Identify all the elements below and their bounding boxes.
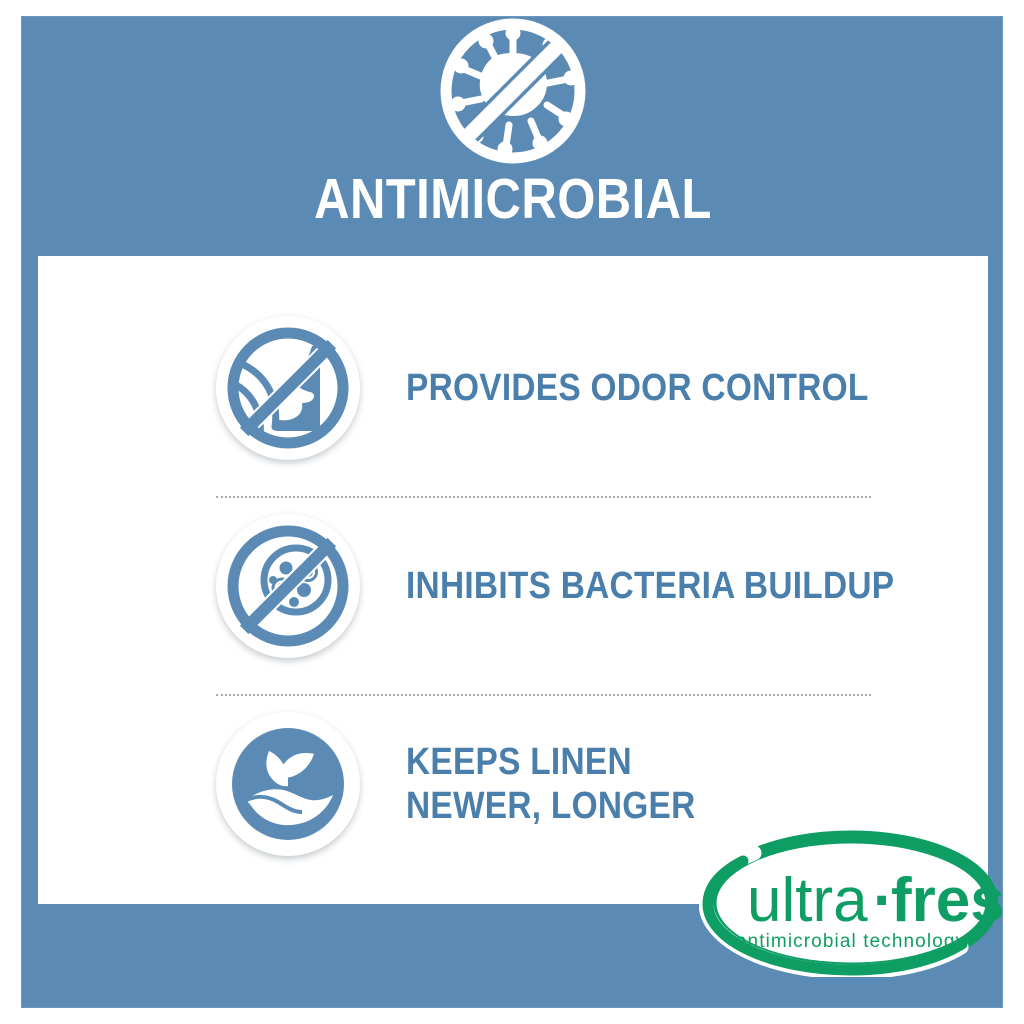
header: ANTIMICROBIAL (22, 17, 1004, 256)
no-bacteria-magnifier-icon (216, 514, 360, 658)
blue-panel: ANTIMICROBIAL (21, 16, 1003, 1008)
feature-label: INHIBITS BACTERIA BUILDUP (406, 564, 894, 608)
logo-tagline: antimicrobial technology (736, 931, 966, 952)
logo-word-bold: fresh (891, 866, 1004, 935)
leaf-linen-icon (216, 712, 360, 856)
logo-word-light: ultra (747, 866, 868, 935)
poster-canvas: ANTIMICROBIAL (0, 0, 1024, 1024)
feature-row: PROVIDES ODOR CONTROL (38, 298, 988, 478)
no-odor-nose-icon (216, 316, 360, 460)
page-title: ANTIMICROBIAL (91, 171, 936, 228)
feature-label: PROVIDES ODOR CONTROL (406, 366, 869, 410)
features-card: PROVIDES ODOR CONTROL (38, 256, 988, 904)
feature-row: INHIBITS BACTERIA BUILDUP (38, 496, 988, 676)
feature-label: KEEPS LINEN NEWER, LONGER (406, 740, 696, 828)
ultra-fresh-logo: ultra · fresh antimicrobial technology (699, 829, 1004, 977)
no-virus-icon (435, 13, 591, 169)
